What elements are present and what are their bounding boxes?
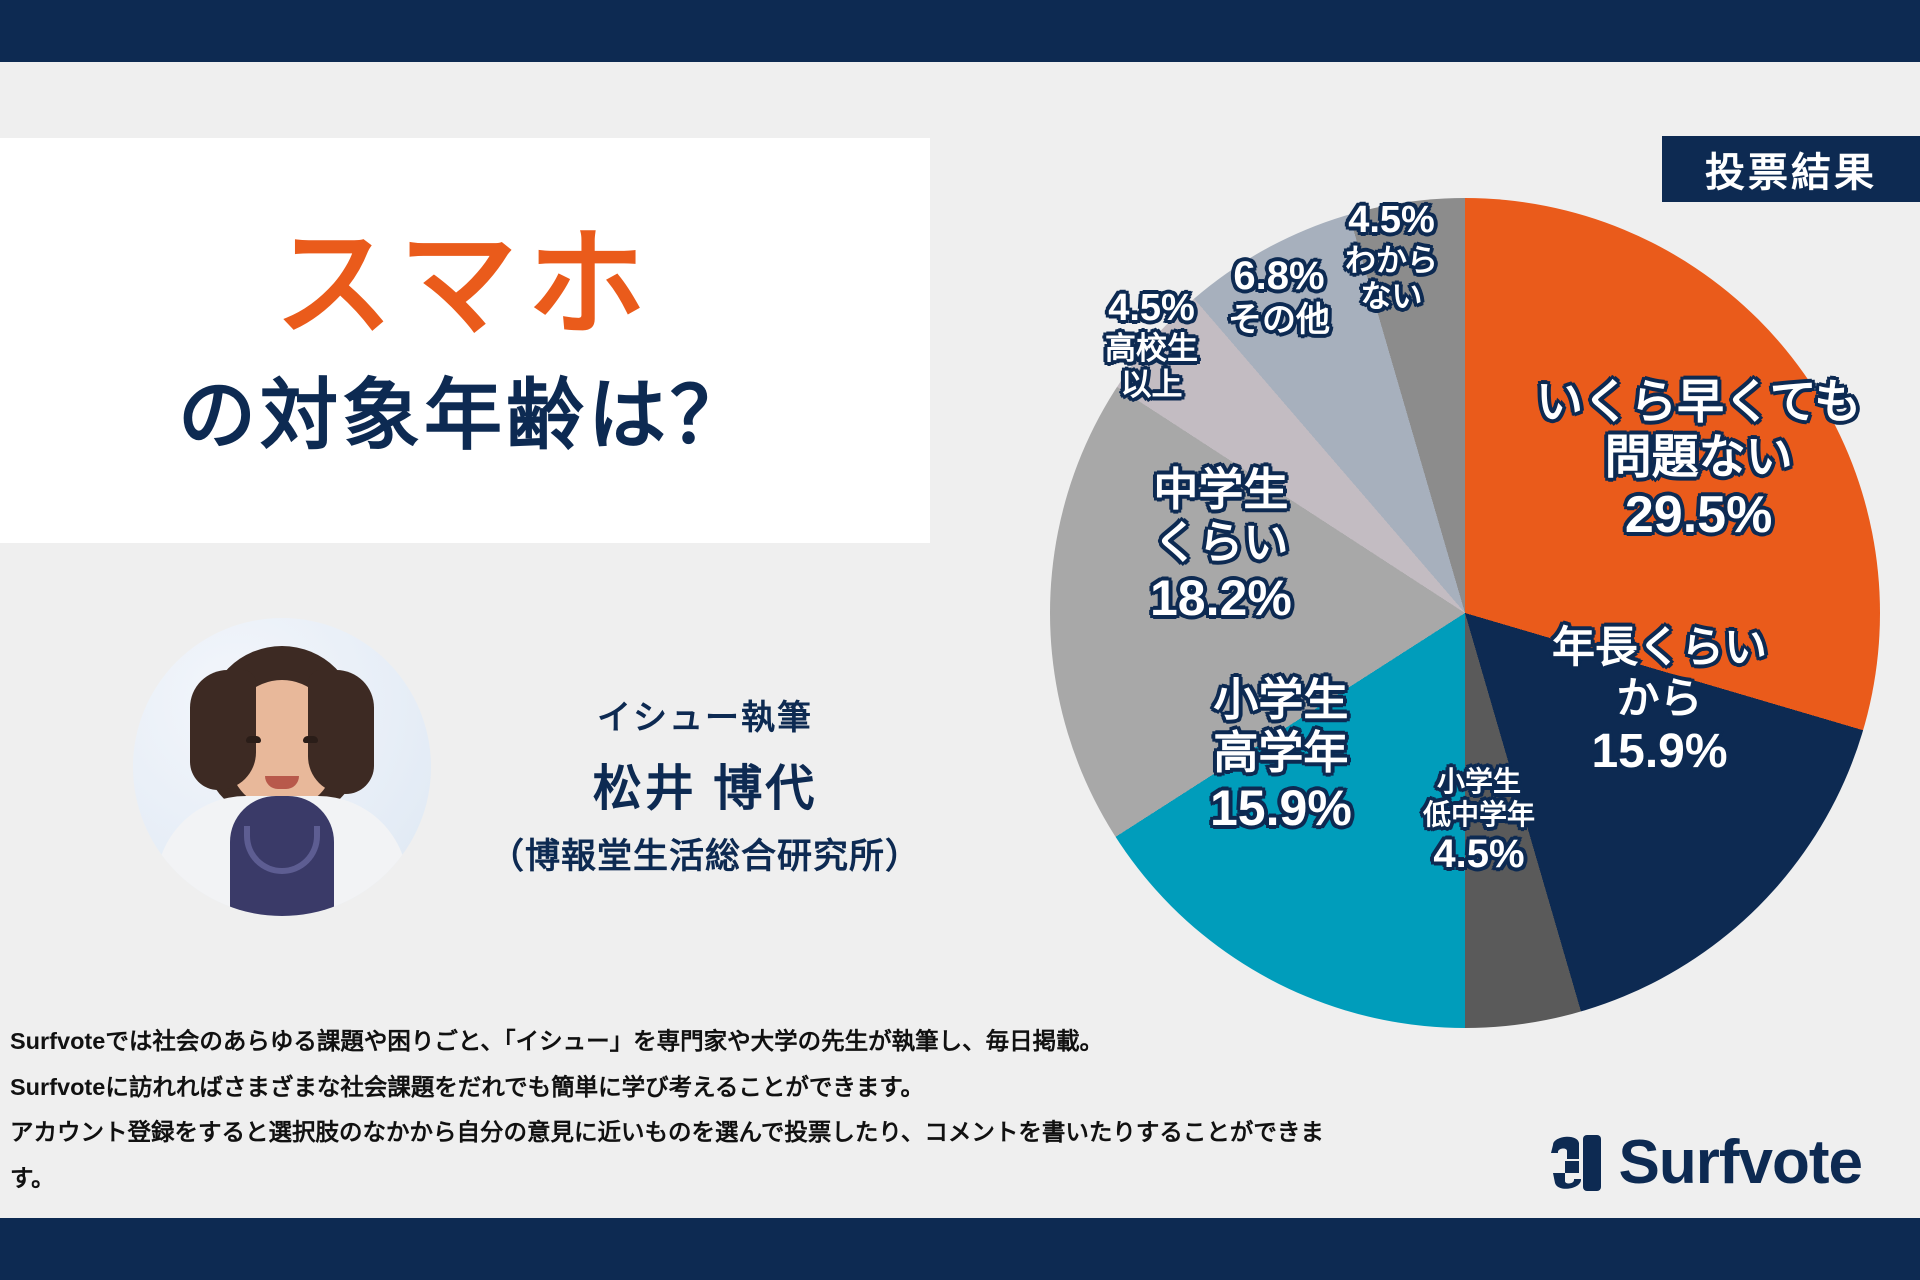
surfvote-logo: Surfvote bbox=[1549, 1127, 1862, 1198]
pie-slice-value: 6.8% bbox=[1228, 253, 1330, 300]
pie-slice-label: 小学生 低中学年4.5% bbox=[1423, 765, 1535, 878]
title-card: スマホ の対象年齢は？ bbox=[0, 138, 930, 543]
author-name: 松井 博代 bbox=[470, 749, 940, 820]
pie-slice-name: 小学生 高学年 bbox=[1210, 673, 1352, 779]
slide-root: スマホ の対象年齢は？ 投票結果 イシュー執筆 松井 博代 （博報堂生活総合研究… bbox=[0, 0, 1920, 1280]
avatar bbox=[133, 618, 431, 916]
pie-slice-name: 中学生 くらい bbox=[1150, 463, 1292, 569]
pie-slice-value: 15.9% bbox=[1552, 724, 1767, 781]
avatar-eye-right bbox=[303, 736, 318, 743]
pie-slice-value: 4.5% bbox=[1423, 831, 1535, 878]
surfvote-mark-icon bbox=[1549, 1131, 1605, 1195]
author-info: イシュー執筆 松井 博代 （博報堂生活総合研究所） bbox=[470, 690, 940, 879]
pie-slice-label: 小学生 高学年15.9% bbox=[1210, 673, 1352, 838]
avatar-hair-left bbox=[190, 670, 256, 790]
pie-slice-value: 29.5% bbox=[1536, 485, 1861, 546]
avatar-hair-right bbox=[308, 670, 374, 794]
pie-slice-value: 15.9% bbox=[1210, 779, 1352, 838]
status-badge: 投票結果 bbox=[1662, 136, 1920, 202]
avatar-eye-left bbox=[246, 736, 261, 743]
pie-slice-name: 年長くらい から bbox=[1552, 623, 1767, 724]
bottom-accent-bar bbox=[0, 1218, 1920, 1280]
pie-slice-label: 6.8%その他 bbox=[1228, 253, 1330, 340]
pie-slice-label: いくら早くても 問題ない29.5% bbox=[1536, 374, 1861, 546]
surfvote-wordmark: Surfvote bbox=[1619, 1127, 1862, 1198]
page-title-rest: の対象年齢は？ bbox=[178, 367, 752, 465]
author-organization: （博報堂生活総合研究所） bbox=[470, 828, 940, 879]
pie-slice-label: 中学生 くらい18.2% bbox=[1150, 463, 1292, 628]
pie-slice-label: 年長くらい から15.9% bbox=[1552, 623, 1767, 781]
pie-slice-label: 4.5%わから ない bbox=[1345, 198, 1438, 316]
pie-slice-name: その他 bbox=[1228, 300, 1330, 340]
author-role: イシュー執筆 bbox=[470, 690, 940, 739]
pie-slice-name: わから ない bbox=[1345, 243, 1438, 316]
pie-slice-name: いくら早くても 問題ない bbox=[1536, 374, 1861, 485]
footnote-line: アカウント登録をすると選択肢のなかから自分の意見に近いものを選んで投票したり、コ… bbox=[10, 1110, 1330, 1202]
pie-chart: いくら早くても 問題ない29.5%年長くらい から15.9%小学生 低中学年4.… bbox=[1020, 198, 1910, 1088]
top-accent-bar bbox=[0, 0, 1920, 62]
pie-slice-value: 4.5% bbox=[1105, 286, 1198, 331]
pie-slice-name: 高校生 以上 bbox=[1105, 331, 1198, 404]
pie-slice-name: 小学生 低中学年 bbox=[1423, 765, 1535, 831]
page-title-highlight: スマホ bbox=[275, 216, 655, 355]
pie-slice-value: 18.2% bbox=[1150, 569, 1292, 628]
pie-slice-label: 4.5%高校生 以上 bbox=[1105, 286, 1198, 404]
pie-slice-value: 4.5% bbox=[1345, 198, 1438, 243]
